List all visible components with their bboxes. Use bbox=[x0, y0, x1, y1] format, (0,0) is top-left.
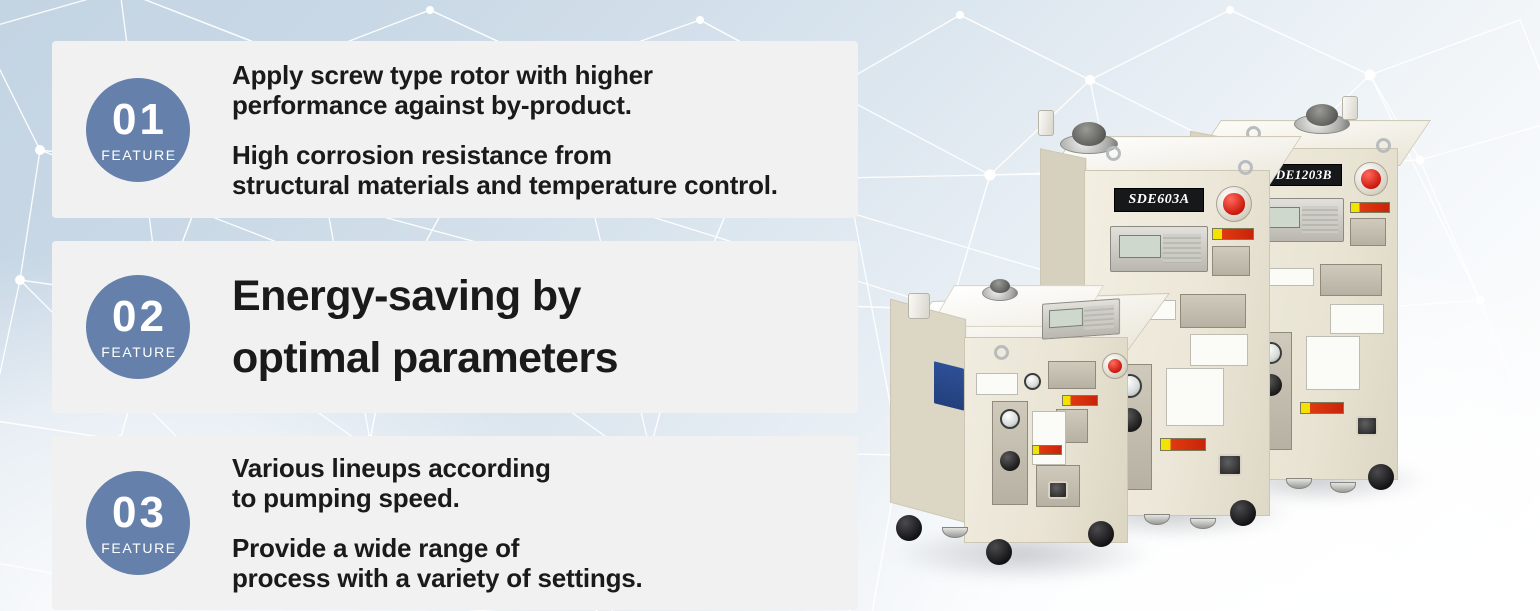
machine-side-face bbox=[890, 299, 966, 523]
product-photo: SDE1203B bbox=[880, 0, 1540, 611]
control-panel[interactable] bbox=[1042, 298, 1120, 339]
panel-lcd-display bbox=[1049, 308, 1082, 328]
caster-wheel bbox=[1088, 521, 1114, 547]
feature-text-01: Apply screw type rotor with higher perfo… bbox=[190, 60, 778, 200]
warning-label bbox=[1062, 395, 1098, 406]
feature-badge-02: 02 FEATURE bbox=[86, 275, 190, 379]
caster-wheel bbox=[1230, 500, 1256, 526]
machine-front-unit bbox=[890, 285, 1150, 570]
pressure-gauge bbox=[1024, 373, 1041, 390]
power-connector[interactable] bbox=[1218, 454, 1242, 476]
instruction-label bbox=[1032, 411, 1066, 465]
feature-label: FEATURE bbox=[99, 148, 177, 162]
spec-label bbox=[976, 373, 1018, 395]
caution-label bbox=[1300, 402, 1344, 414]
caster-wheel bbox=[986, 539, 1012, 565]
instruction-label bbox=[1166, 368, 1224, 426]
power-connector[interactable] bbox=[1356, 416, 1378, 436]
feature-text-02: Energy-saving by optimal parameters bbox=[190, 265, 618, 389]
estop-red-cap bbox=[1108, 359, 1123, 374]
feature-banner: SDE1203B bbox=[0, 0, 1540, 611]
panel-keypad[interactable] bbox=[1163, 234, 1201, 263]
valve-knob[interactable] bbox=[1000, 451, 1020, 471]
feature-paragraph: Provide a wide range of process with a v… bbox=[232, 533, 643, 593]
machine-nameplate: SDE603A bbox=[1114, 188, 1204, 212]
emergency-stop-button[interactable] bbox=[1102, 353, 1128, 379]
breaker-recess bbox=[1212, 246, 1250, 276]
wiring-label bbox=[1330, 304, 1384, 334]
feature-paragraph: Various lineups according to pumping spe… bbox=[232, 453, 643, 513]
caster-wheel bbox=[896, 515, 922, 541]
caution-label bbox=[1160, 438, 1206, 451]
feature-card-01: 01 FEATURE Apply screw type rotor with h… bbox=[52, 41, 858, 218]
feature-badge-03: 03 FEATURE bbox=[86, 471, 190, 575]
io-connector-panel bbox=[1180, 294, 1246, 328]
feature-label: FEATURE bbox=[99, 541, 177, 555]
caster-wheel bbox=[1368, 464, 1394, 490]
feature-number: 02 bbox=[109, 295, 167, 339]
feature-card-02: 02 FEATURE Energy-saving by optimal para… bbox=[52, 241, 858, 413]
inlet-port bbox=[1306, 104, 1338, 126]
feature-number: 01 bbox=[109, 98, 167, 142]
io-connector-panel bbox=[1048, 361, 1096, 389]
exhaust-stack bbox=[1038, 110, 1054, 136]
warning-label bbox=[1212, 228, 1254, 240]
panel-lcd-display bbox=[1119, 235, 1161, 258]
io-connector-panel bbox=[1320, 264, 1382, 296]
control-panel[interactable] bbox=[1110, 226, 1208, 272]
caution-label bbox=[1032, 445, 1062, 455]
emergency-stop-button[interactable] bbox=[1216, 186, 1252, 222]
panel-keypad[interactable] bbox=[1302, 206, 1338, 234]
lift-eye-icon bbox=[994, 345, 1009, 360]
exhaust-stack bbox=[908, 293, 930, 319]
feature-paragraph: Apply screw type rotor with higher perfo… bbox=[232, 60, 778, 120]
feature-badge-01: 01 FEATURE bbox=[86, 78, 190, 182]
lift-eye-icon bbox=[1106, 146, 1121, 161]
lift-eye-icon bbox=[1376, 138, 1391, 153]
feature-number: 03 bbox=[109, 491, 167, 535]
wiring-label bbox=[1190, 334, 1248, 366]
feature-card-03: 03 FEATURE Various lineups according to … bbox=[52, 436, 858, 610]
brand-label bbox=[934, 361, 964, 410]
warning-label bbox=[1350, 202, 1390, 213]
panel-keypad[interactable] bbox=[1084, 305, 1114, 330]
feature-list: 01 FEATURE Apply screw type rotor with h… bbox=[52, 41, 858, 610]
estop-red-cap bbox=[1223, 193, 1244, 214]
feature-paragraph: High corrosion resistance from structura… bbox=[232, 140, 778, 200]
emergency-stop-button[interactable] bbox=[1354, 162, 1388, 196]
breaker-recess bbox=[1350, 218, 1386, 246]
power-connector[interactable] bbox=[1048, 481, 1068, 499]
instruction-label bbox=[1306, 336, 1360, 390]
feature-text-03: Various lineups according to pumping spe… bbox=[190, 453, 643, 593]
exhaust-stack bbox=[1342, 96, 1358, 120]
inlet-port bbox=[990, 279, 1010, 293]
lift-eye-icon bbox=[1238, 160, 1253, 175]
feature-label: FEATURE bbox=[99, 345, 177, 359]
estop-red-cap bbox=[1361, 169, 1381, 189]
inlet-port bbox=[1072, 122, 1106, 146]
feature-paragraph: Energy-saving by optimal parameters bbox=[232, 265, 618, 389]
vacuum-gauge bbox=[1000, 409, 1020, 429]
